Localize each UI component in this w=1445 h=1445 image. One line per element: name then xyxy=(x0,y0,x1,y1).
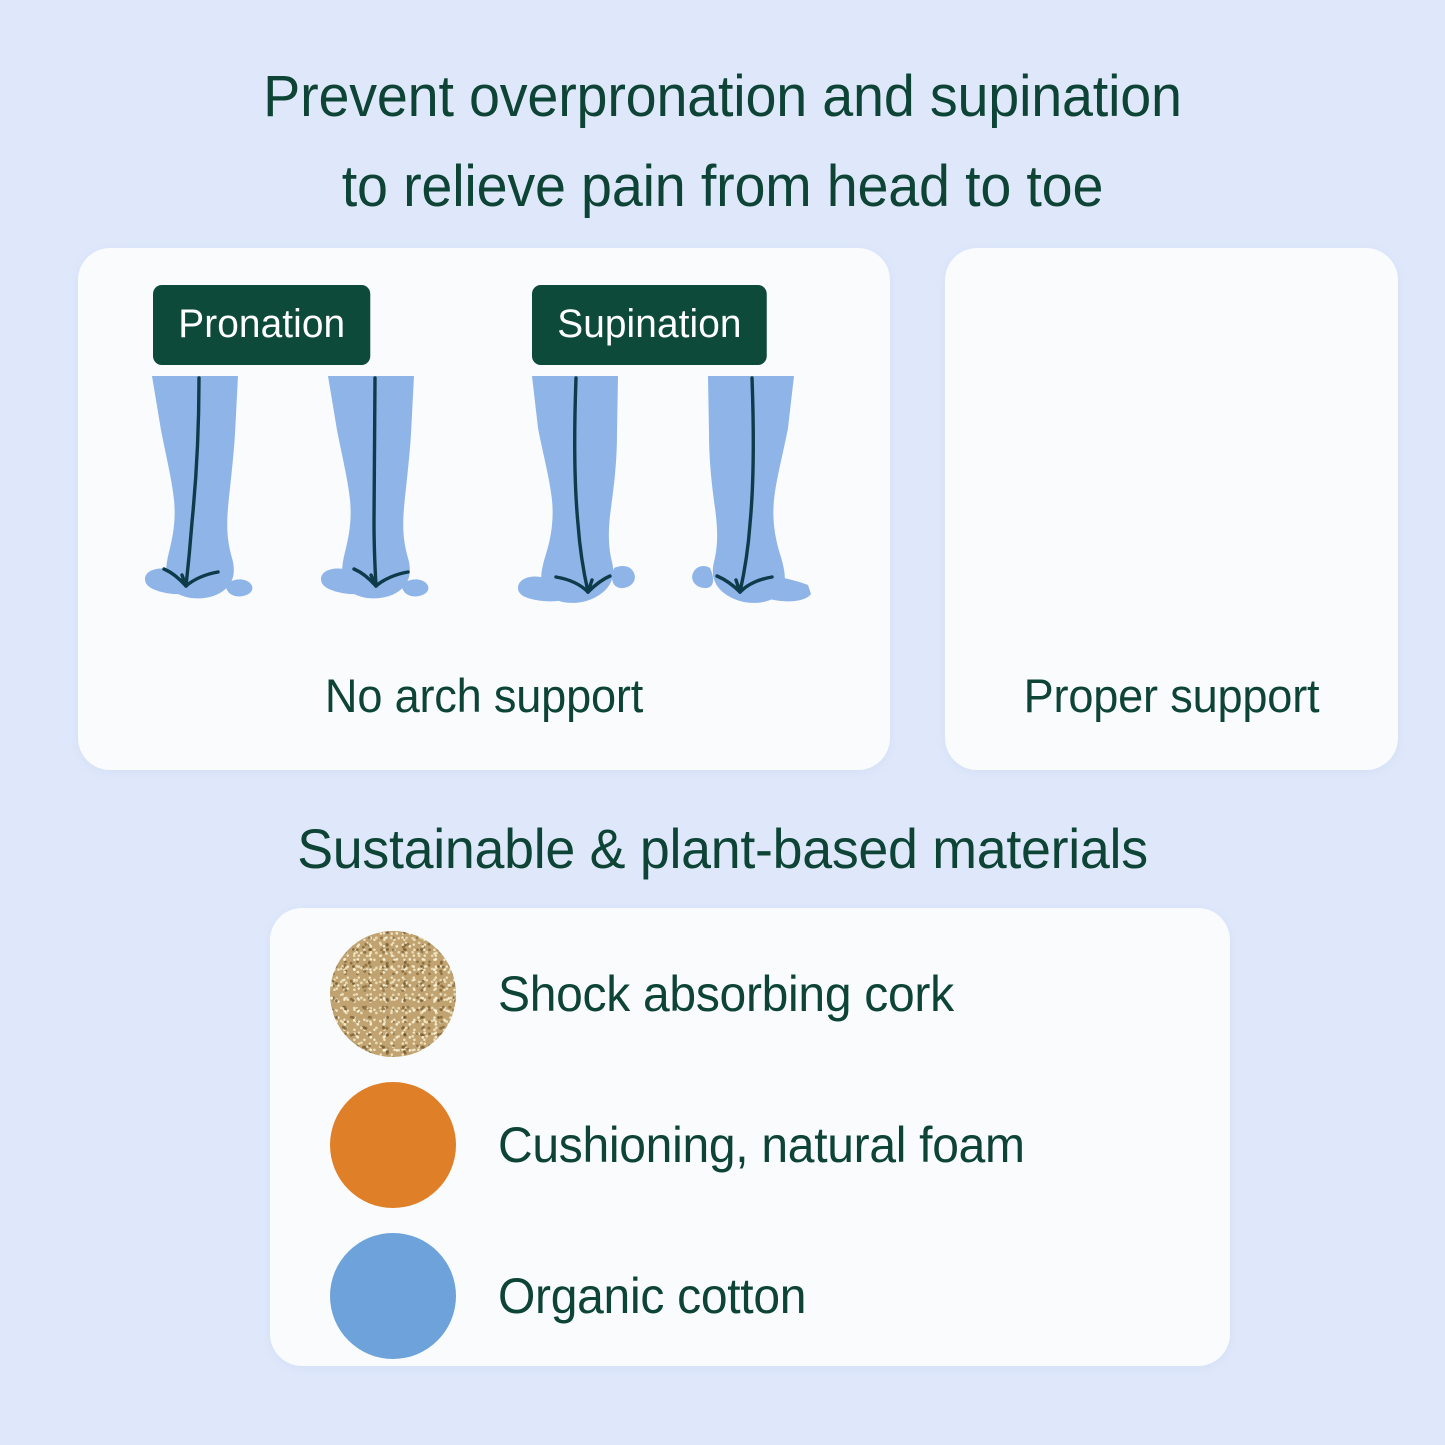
pronation-badge-label: Pronation xyxy=(178,302,345,346)
page-title-line-1: Prevent overpronation and supination xyxy=(29,52,1416,142)
materials-heading: Sustainable & plant-based materials xyxy=(29,818,1416,880)
pronation-badge: Pronation xyxy=(153,285,370,365)
material-item-cotton: Organic cotton xyxy=(330,1232,819,1360)
supination-legs-illustration xyxy=(518,372,838,627)
page-title: Prevent overpronation and supination to … xyxy=(29,52,1416,232)
material-item-foam: Cushioning, natural foam xyxy=(330,1081,1047,1209)
supination-leg-left xyxy=(518,376,635,603)
pronation-leg-left xyxy=(145,376,252,598)
material-label-cotton: Organic cotton xyxy=(498,1271,806,1321)
supination-badge-label: Supination xyxy=(557,302,741,346)
proper-support-caption: Proper support xyxy=(954,672,1389,719)
material-item-cork: Shock absorbing cork xyxy=(330,930,973,1058)
page-title-line-2: to relieve pain from head to toe xyxy=(29,142,1416,232)
pronation-legs-illustration xyxy=(140,372,460,627)
cork-swatch xyxy=(330,931,456,1057)
supination-badge: Supination xyxy=(532,285,767,365)
infographic-canvas: Prevent overpronation and supination to … xyxy=(0,0,1445,1445)
material-label-foam: Cushioning, natural foam xyxy=(498,1120,1025,1170)
foam-swatch xyxy=(330,1082,456,1208)
material-label-cork: Shock absorbing cork xyxy=(498,969,954,1019)
pronation-leg-right xyxy=(321,376,428,598)
supination-leg-right xyxy=(692,376,811,603)
cotton-swatch xyxy=(330,1233,456,1359)
no-arch-support-caption: No arch support xyxy=(94,672,874,719)
materials-card: Shock absorbing cork Cushioning, natural… xyxy=(270,908,1230,1366)
